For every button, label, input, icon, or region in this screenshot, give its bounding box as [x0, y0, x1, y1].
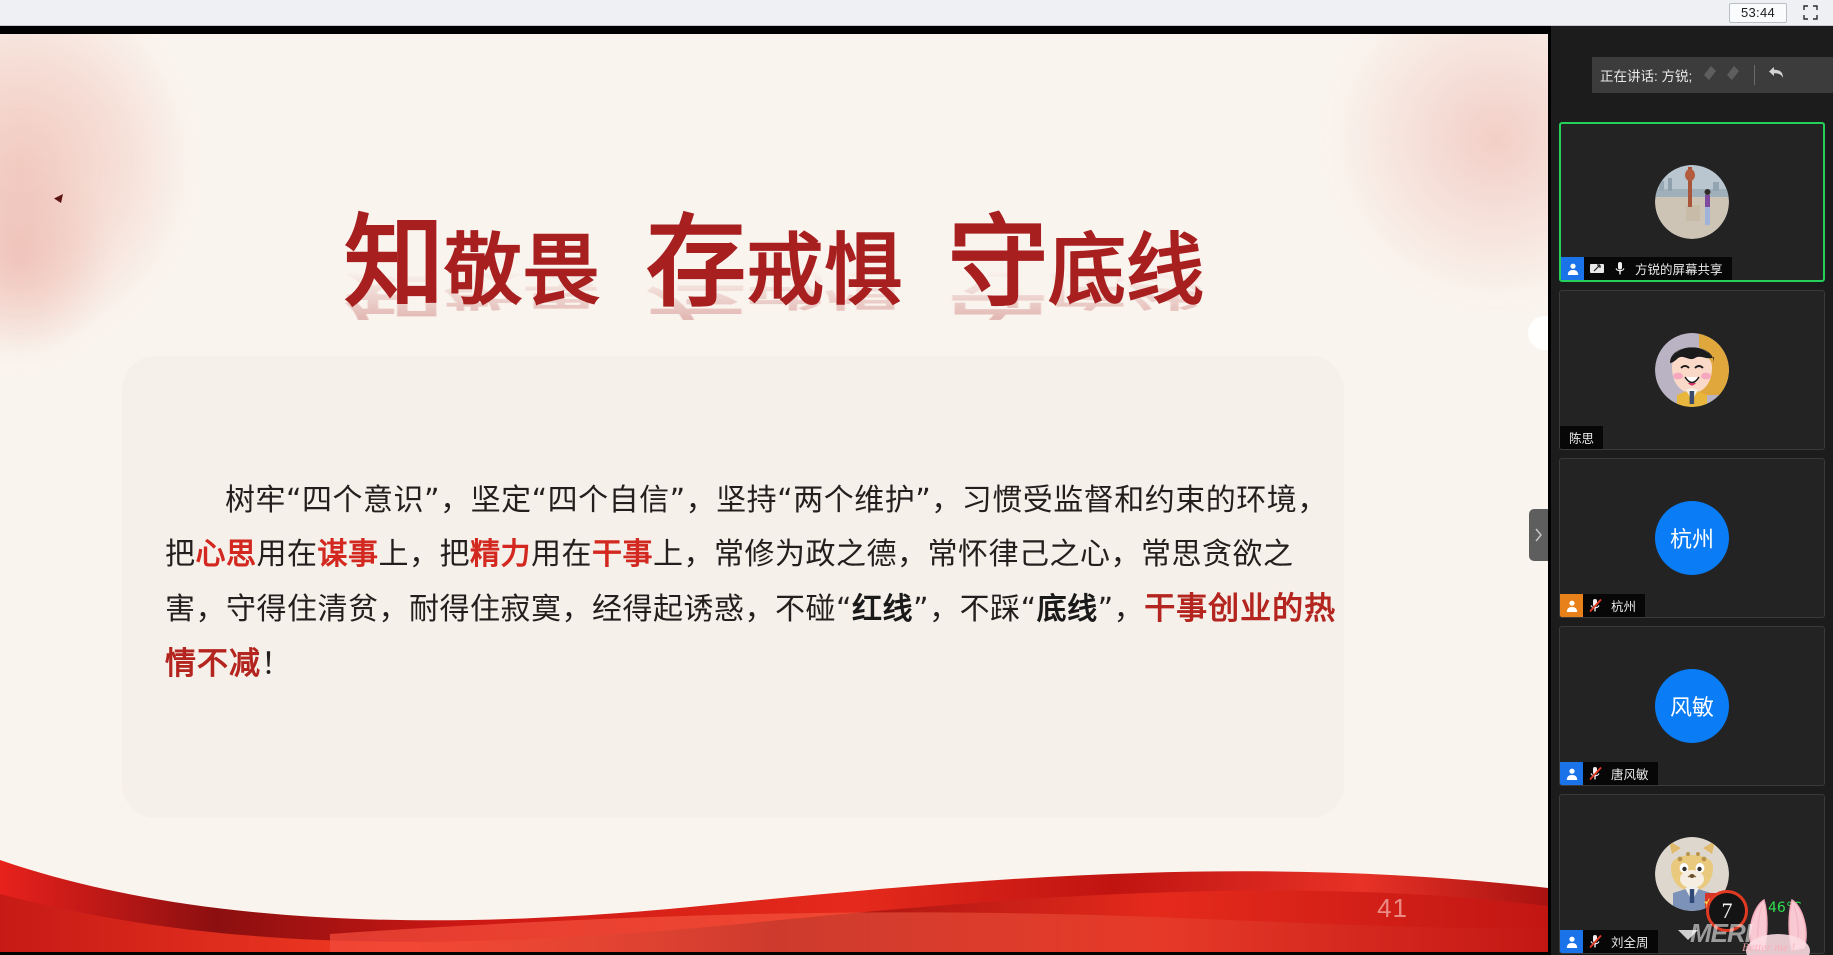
person-icon — [1560, 594, 1583, 617]
red-ribbon-decoration: 41 — [0, 802, 1548, 952]
video-off-icon — [1700, 63, 1720, 88]
return-arrow-icon[interactable] — [1766, 64, 1786, 87]
chevron-down-icon — [1677, 929, 1699, 946]
screen-share-icon — [1586, 257, 1607, 280]
mic-muted-icon — [1585, 594, 1606, 617]
avatar — [1655, 333, 1729, 407]
participant-badge: 方锐的屏幕共享 — [1561, 257, 1732, 280]
shared-screen-slide[interactable]: 知敬畏存戒惧守底线 知敬畏存戒惧守底线 树牢“四个意识”，坚定“四个自信”，坚持… — [0, 34, 1548, 952]
mic-on-icon — [1609, 257, 1630, 280]
slide-edge-notch — [1528, 316, 1548, 350]
active-speaker-icons — [1700, 63, 1786, 88]
avatar: 杭州 — [1655, 501, 1729, 575]
participant-badge: 杭州 — [1560, 594, 1645, 617]
participant-name: 唐风敏 — [1611, 764, 1649, 783]
participant-name: 方锐的屏幕共享 — [1635, 259, 1723, 278]
participant-tile[interactable]: 方锐的屏幕共享 — [1559, 122, 1825, 282]
active-speaker-label: 正在讲话: 方锐; — [1600, 65, 1692, 85]
fullscreen-button[interactable] — [1797, 3, 1823, 23]
participant-name: 杭州 — [1611, 596, 1636, 615]
avatar: 风敏 — [1655, 669, 1729, 743]
meeting-timer: 53:44 — [1729, 3, 1787, 23]
avatar — [1655, 837, 1729, 911]
window-top-bar: 53:44 — [0, 0, 1833, 26]
icon-separator — [1754, 65, 1755, 85]
slide-page-number: 41 — [1377, 893, 1408, 924]
participant-tile[interactable]: 杭州 杭州 — [1559, 458, 1825, 618]
participant-name: 刘全周 — [1611, 932, 1649, 951]
fullscreen-icon — [1803, 5, 1818, 20]
participant-badge: 陈思 — [1560, 426, 1603, 449]
chevron-right-icon — [1534, 528, 1543, 542]
slide-body-text: 树牢“四个意识”，坚定“四个自信”，坚持“两个维护”，习惯受监督和约束的环境，把… — [165, 474, 1345, 692]
scroll-down-button[interactable] — [1677, 928, 1699, 942]
person-icon — [1561, 257, 1584, 280]
participant-tile[interactable]: 陈思 — [1559, 290, 1825, 450]
active-speaker-banner: 正在讲话: 方锐; — [1592, 57, 1833, 93]
person-icon — [1560, 930, 1583, 953]
panel-collapse-handle[interactable] — [1529, 509, 1548, 561]
mic-muted-icon — [1585, 762, 1606, 785]
participant-badge: 唐风敏 — [1560, 762, 1658, 785]
participant-name: 陈思 — [1569, 428, 1594, 447]
mic-muted-icon — [1585, 930, 1606, 953]
slide-title: 知敬畏存戒惧守底线 — [0, 212, 1548, 312]
participant-tile[interactable]: 风敏 唐风敏 — [1559, 626, 1825, 786]
video-off-icon — [1723, 63, 1743, 88]
participant-badge: 刘全周 — [1560, 930, 1658, 953]
avatar — [1655, 165, 1729, 239]
meeting-stage: 知敬畏存戒惧守底线 知敬畏存戒惧守底线 树牢“四个意识”，坚定“四个自信”，坚持… — [0, 26, 1833, 955]
participants-panel: 正在讲话: 方锐; — [1551, 26, 1833, 955]
person-icon — [1560, 762, 1583, 785]
